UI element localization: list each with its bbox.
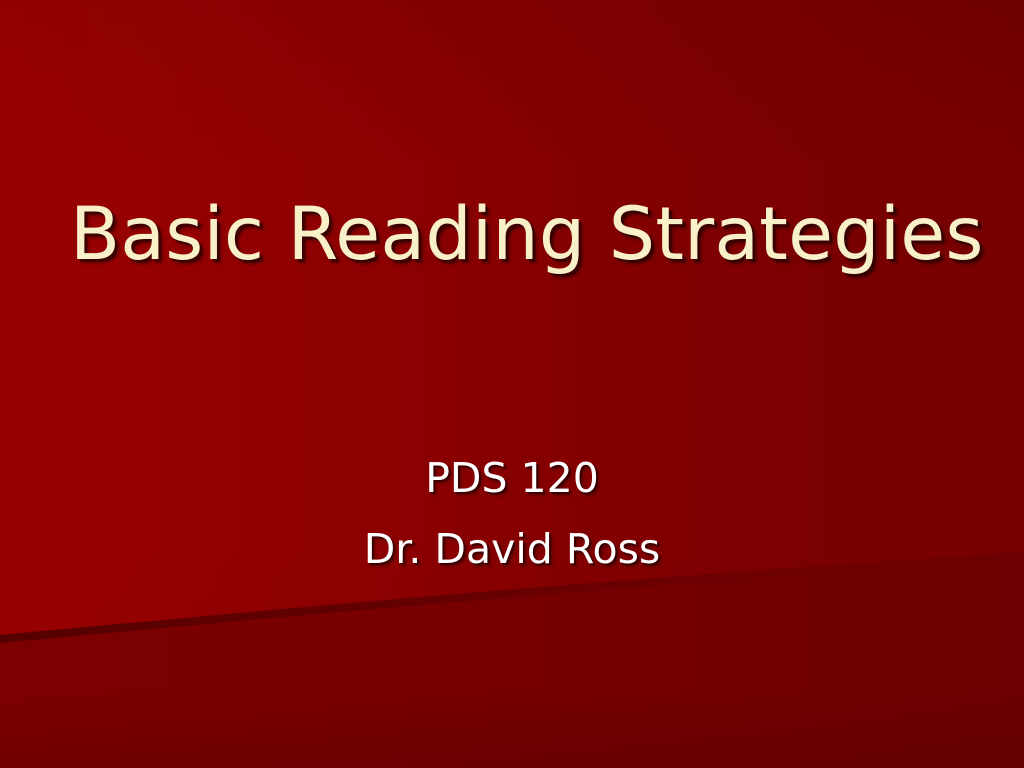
subtitle-placeholder: PDS 120 Dr. David Ross <box>112 443 912 585</box>
subtitle-line-course: PDS 120 <box>112 443 912 514</box>
title-placeholder: Basic Reading Strategies <box>70 196 954 275</box>
subtitle-line-presenter: Dr. David Ross <box>112 514 912 585</box>
background-shading-overlay <box>0 0 1024 768</box>
slide-title: Basic Reading Strategies <box>70 196 954 275</box>
presentation-title-slide: Basic Reading Strategies PDS 120 Dr. Dav… <box>0 0 1024 768</box>
swoosh-bottom-shade <box>0 688 1024 768</box>
